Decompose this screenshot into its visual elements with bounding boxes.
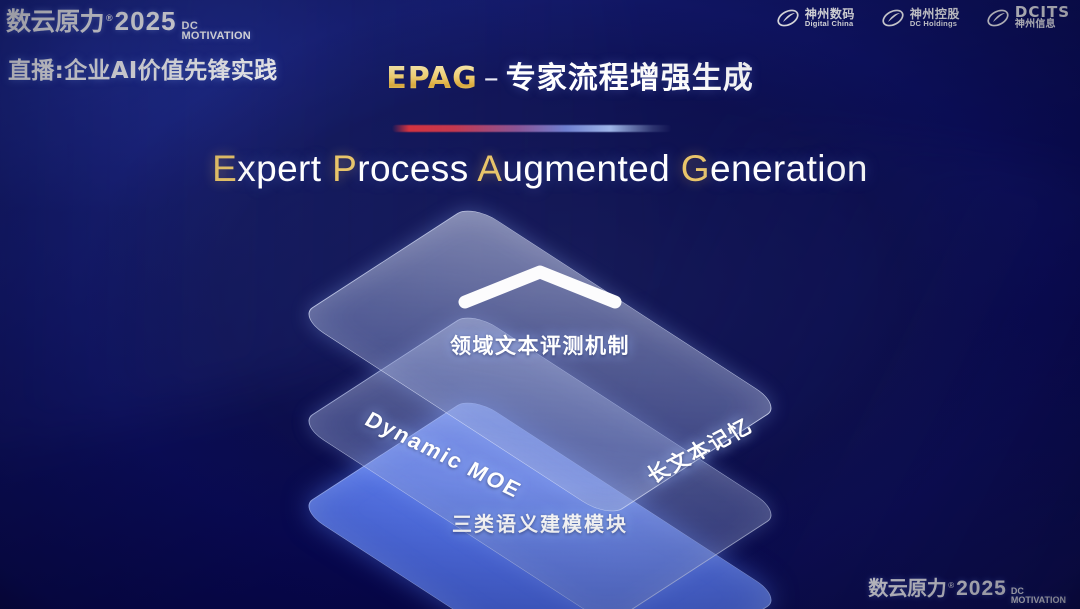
partner-logo-group: 神州数码 Digital China 神州控股 DC Holdings DCIT…	[776, 5, 1070, 30]
footer-brand-year: 2025	[956, 577, 1007, 601]
partner-label-dcits: DCITS 神州信息	[1015, 5, 1070, 30]
slide-canvas: 数云原力 ® 2025 DC MOTIVATION 直播:企业AI价值先锋实践 …	[0, 0, 1080, 609]
partner-logo-digital-china: 神州数码 Digital China	[776, 7, 855, 29]
title-divider	[392, 125, 672, 132]
title-dash: –	[478, 61, 506, 96]
footer-brand-cn: 数云原力	[868, 572, 946, 601]
brand-dc-line2: MOTIVATION	[182, 31, 251, 41]
partner-logo-dc-holdings: 神州控股 DC Holdings	[881, 7, 960, 29]
swirl-logo-icon	[881, 7, 905, 29]
swirl-logo-icon	[776, 7, 800, 29]
partner-name-cn: DCITS	[1015, 5, 1070, 20]
brand-dc-motivation: DC MOTIVATION	[182, 21, 251, 41]
stack-label-bottom: 三类语义建模模块	[0, 508, 1080, 537]
partner-label-digital-china: 神州数码 Digital China	[805, 8, 855, 28]
subtitle-initial-a: A	[477, 148, 502, 189]
partner-name-en: Digital China	[805, 20, 855, 28]
subtitle: Expert Process Augmented Generation	[0, 148, 1080, 190]
partner-name-en: 神州信息	[1015, 20, 1070, 30]
subtitle-initial-g: G	[681, 148, 710, 189]
footer-registered-mark: ®	[948, 581, 954, 590]
brand-logo: 数云原力 ® 2025 DC MOTIVATION	[6, 2, 336, 42]
brand-name-cn: 数云原力	[6, 2, 104, 38]
brand-registered-mark: ®	[106, 13, 113, 23]
subtitle-word-expert: xpert	[237, 148, 332, 189]
footer-dc-motivation: DC MOTIVATION	[1011, 587, 1066, 604]
footer-dc-line2: MOTIVATION	[1011, 596, 1066, 604]
footer-watermark-logo: 数云原力 ® 2025 DC MOTIVATION	[868, 572, 1066, 605]
title-chinese: 专家流程增强生成	[506, 61, 754, 96]
brand-year: 2025	[115, 6, 177, 37]
title-acronym: EPAG	[386, 61, 478, 96]
subtitle-initial-p: P	[332, 148, 357, 189]
partner-logo-dcits: DCITS 神州信息	[986, 5, 1070, 30]
subtitle-word-process: rocess	[357, 148, 477, 189]
subtitle-initial-e: E	[212, 148, 237, 189]
partner-name-en: DC Holdings	[910, 20, 960, 28]
partner-label-dc-holdings: 神州控股 DC Holdings	[910, 8, 960, 28]
stack-label-top: 领域文本评测机制	[0, 330, 1080, 360]
page-title: EPAG–专家流程增强生成	[0, 53, 1080, 97]
subtitle-word-augmented: ugmented	[502, 148, 680, 189]
subtitle-word-generation: eneration	[710, 148, 868, 189]
swirl-logo-icon	[986, 7, 1010, 29]
